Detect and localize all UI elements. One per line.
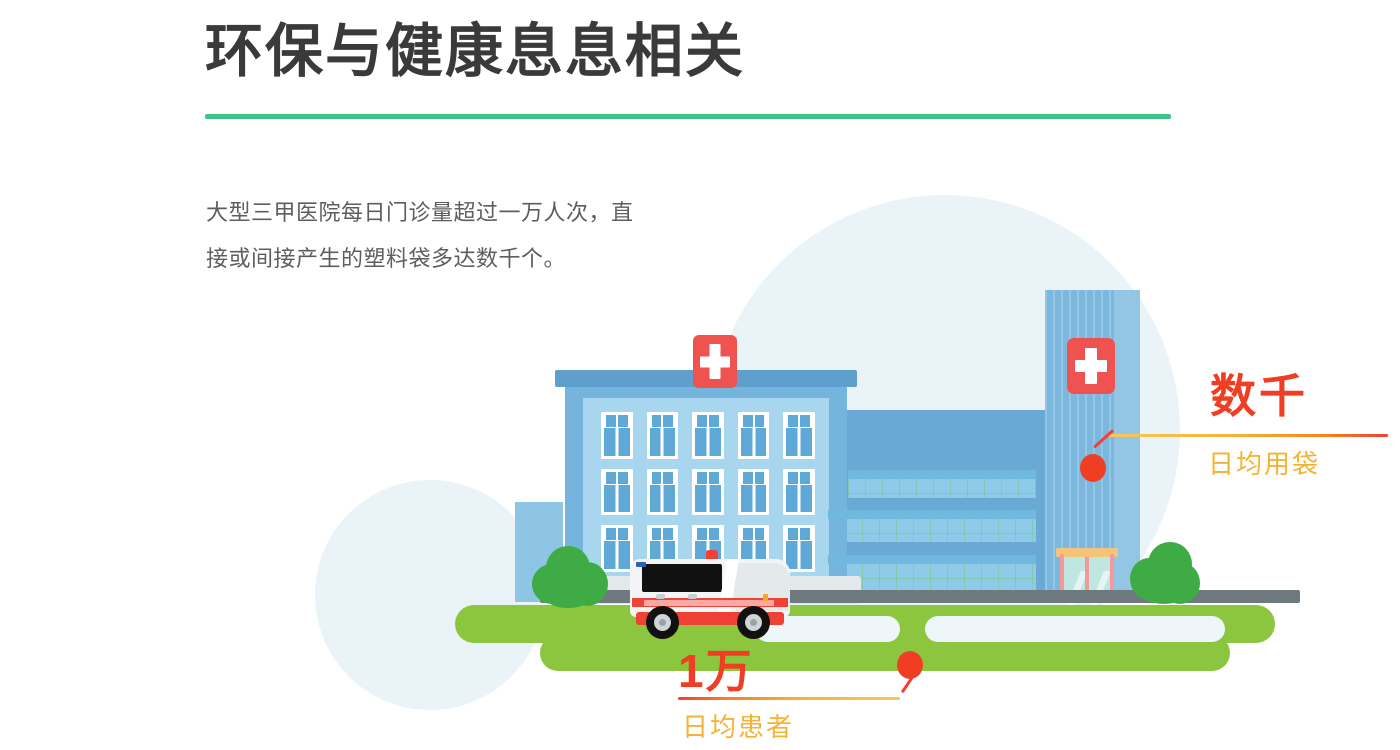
curtain-wall-row-2 xyxy=(828,510,1036,542)
red-cross-roof-sign-icon xyxy=(693,335,737,388)
curtain-band-1 xyxy=(848,470,1036,479)
callout-patients: 1万 日均患者 xyxy=(670,635,930,750)
bush-right xyxy=(1130,542,1200,604)
window xyxy=(692,469,724,516)
page-title: 环保与健康息息相关 xyxy=(205,22,745,83)
callout-bags-leader-line xyxy=(1093,429,1114,449)
window xyxy=(738,412,770,459)
title-underline-rule xyxy=(205,114,1171,119)
ambulance-indicator-light xyxy=(763,594,768,601)
ambulance-badge xyxy=(636,562,646,567)
curtain-band-3 xyxy=(828,555,1036,564)
backdrop-circle-small xyxy=(315,480,545,710)
path-segment-right xyxy=(925,616,1225,642)
callout-patients-value: 1万 xyxy=(678,635,754,701)
window xyxy=(692,412,724,459)
entrance-canopy xyxy=(1056,548,1118,557)
curtain-band-2 xyxy=(828,510,1036,519)
cross-horizontal-bar xyxy=(700,356,730,367)
hospital-glass-wing xyxy=(840,410,1045,602)
window xyxy=(647,412,679,459)
callout-bags-rule xyxy=(1108,434,1388,437)
ambulance xyxy=(630,550,790,638)
window-grid xyxy=(601,412,815,572)
wing-cap xyxy=(832,454,1045,468)
window xyxy=(783,469,815,516)
callout-bags: 数千 日均用袋 xyxy=(1080,360,1400,490)
hospital-illustration: 数千 日均用袋 1万 日均患者 xyxy=(300,150,1400,700)
callout-patients-dot-marker xyxy=(897,651,923,679)
curtain-wall-row-1 xyxy=(848,470,1036,498)
window xyxy=(647,469,679,516)
window xyxy=(738,469,770,516)
window xyxy=(601,412,633,459)
bush-left xyxy=(532,546,608,608)
window xyxy=(601,469,633,516)
callout-bags-value: 数千 xyxy=(1210,360,1308,426)
ambulance-handle-front xyxy=(656,594,665,599)
ambulance-handle-rear xyxy=(688,594,697,599)
callout-patients-label: 日均患者 xyxy=(682,707,794,744)
ambulance-window xyxy=(642,564,722,592)
callout-bags-label: 日均用袋 xyxy=(1208,444,1320,481)
slide-canvas: 环保与健康息息相关 大型三甲医院每日门诊量超过一万人次，直接或间接产生的塑料袋多… xyxy=(0,0,1400,700)
callout-bags-dot-marker xyxy=(1080,454,1106,482)
window xyxy=(783,412,815,459)
